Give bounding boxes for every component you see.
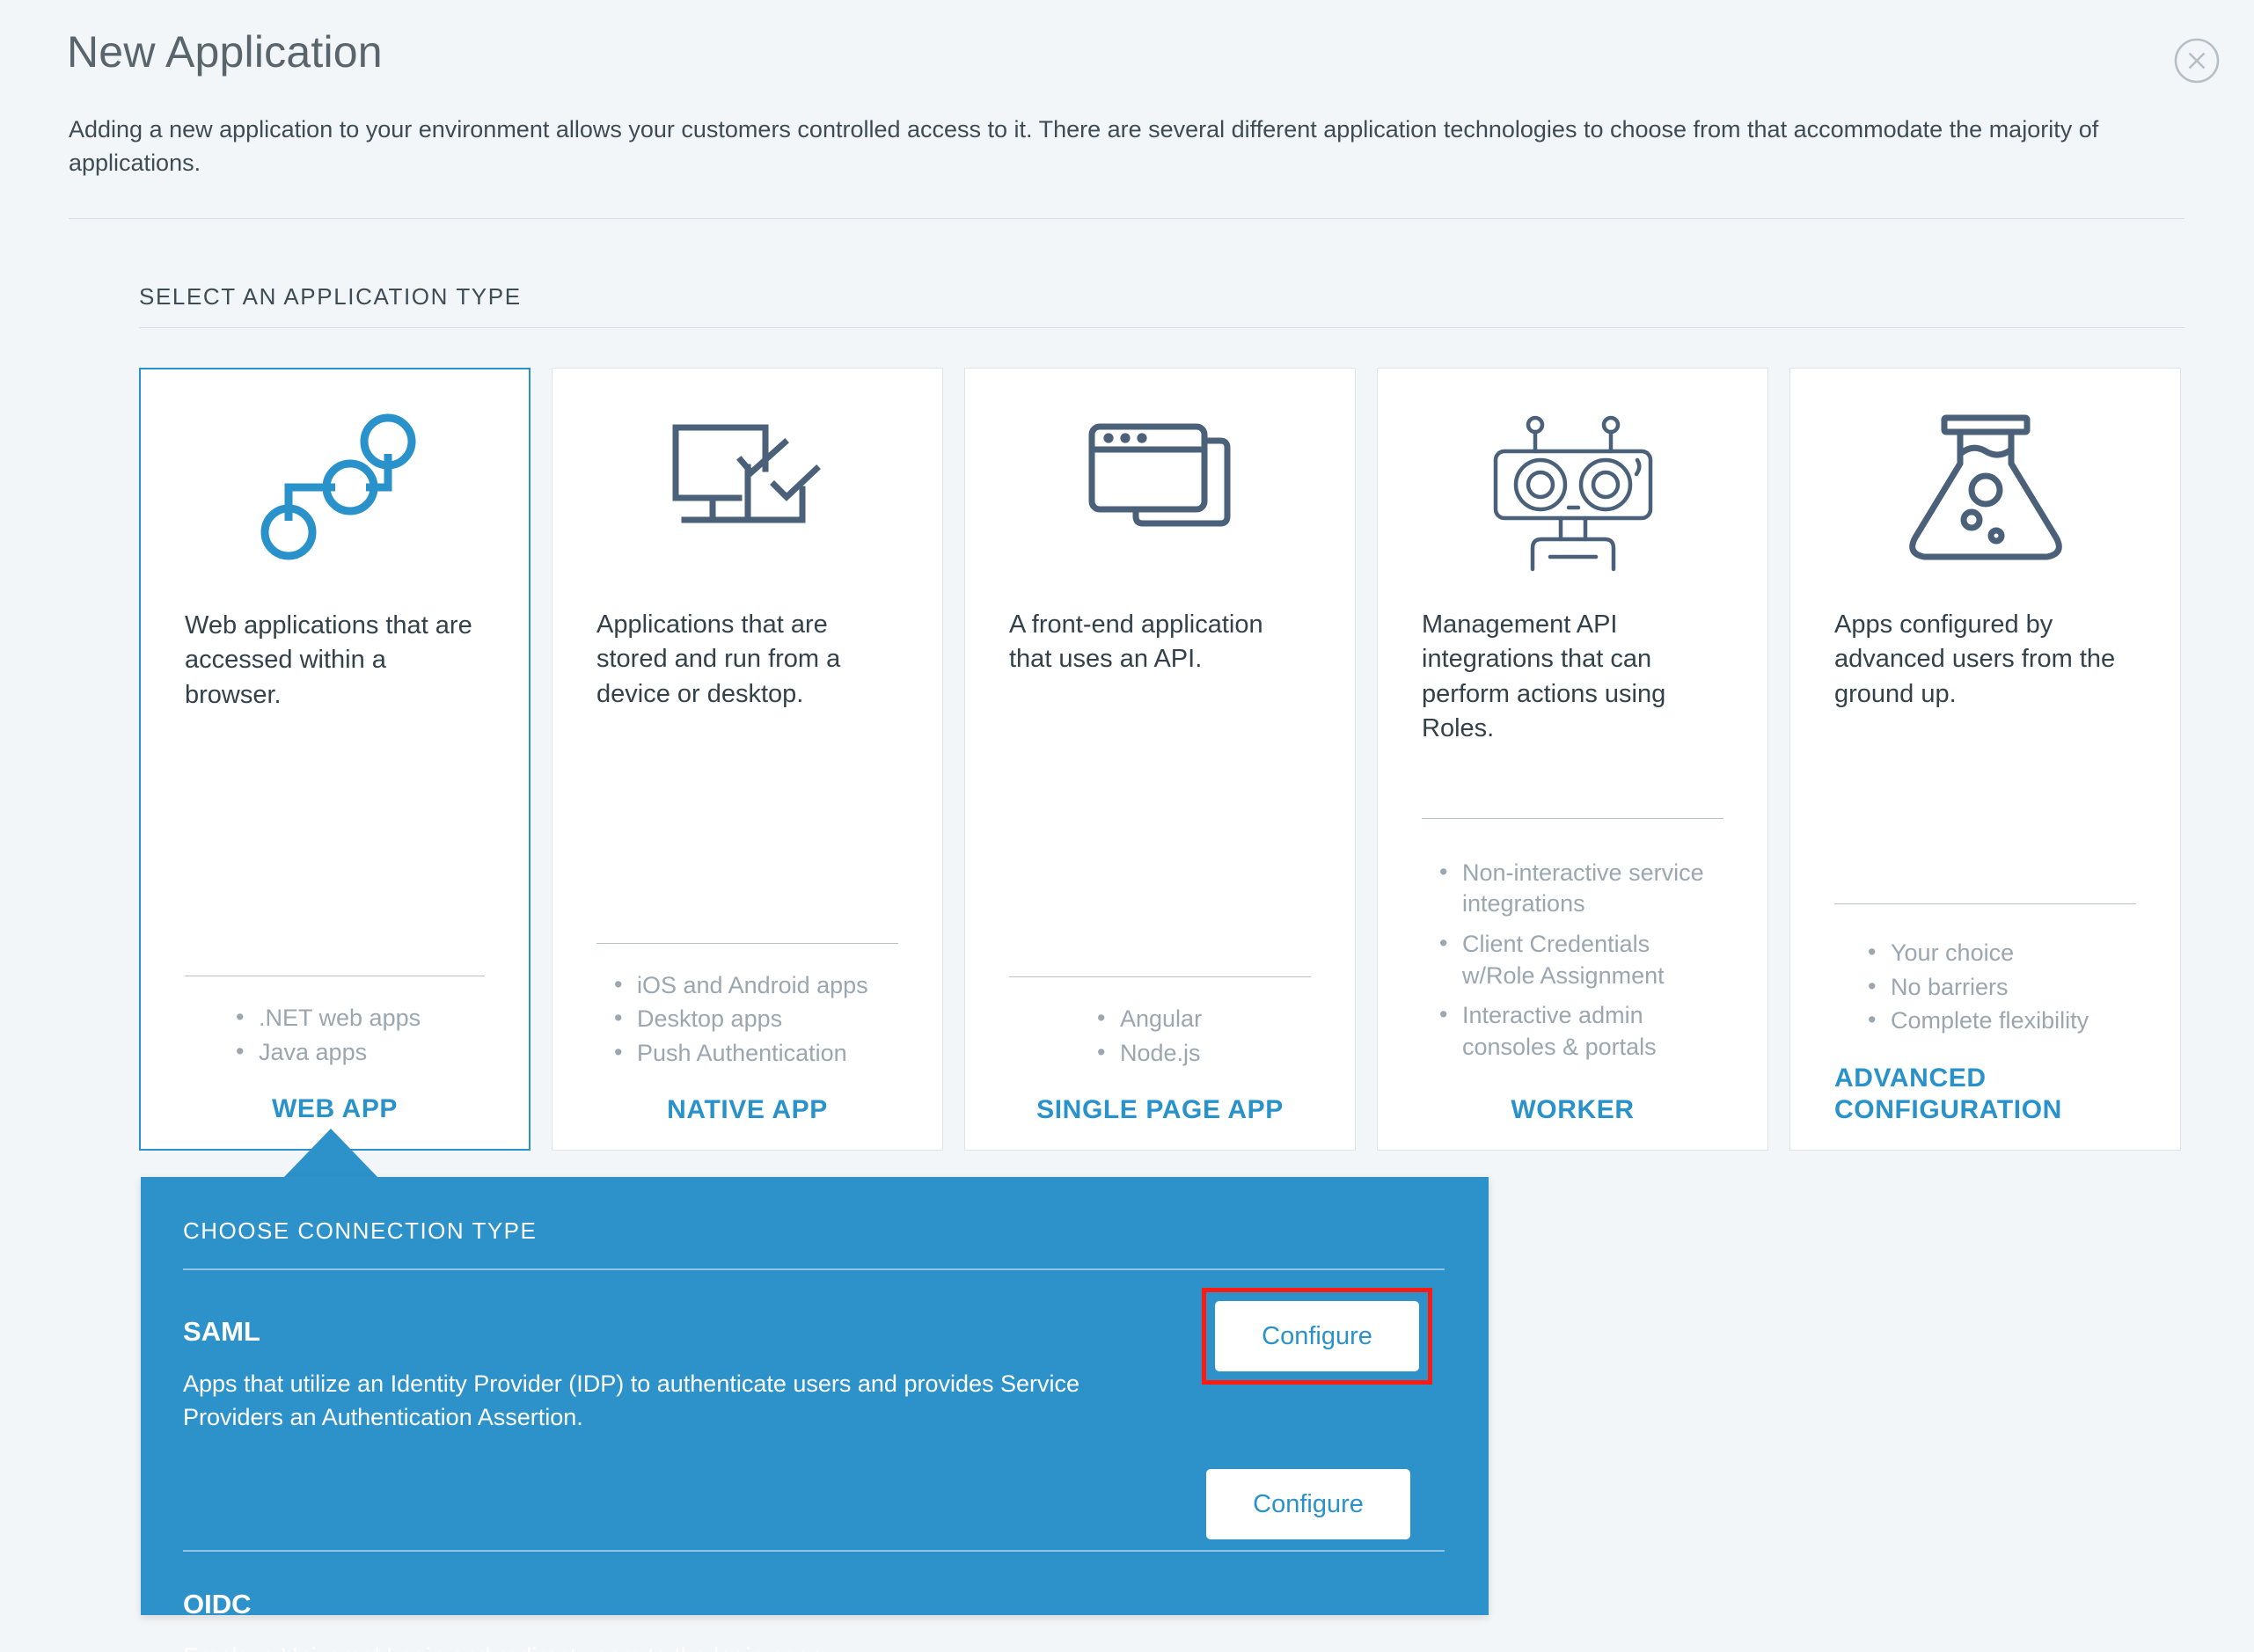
header-divider [69, 218, 2184, 219]
oidc-configure-wrapper: Configure [1206, 1469, 1410, 1539]
connection-option-description: Employs Universal Login and redirect use… [183, 1640, 1155, 1652]
card-cta-web-app[interactable]: WEB APP [185, 1093, 485, 1126]
app-type-card-native-app[interactable]: Applications that are stored and run fro… [552, 368, 943, 1151]
saml-configure-highlight: Configure [1202, 1288, 1432, 1385]
card-description: A front-end application that uses an API… [1009, 608, 1311, 677]
card-cta-worker[interactable]: WORKER [1422, 1094, 1723, 1127]
page-description: Adding a new application to your environ… [69, 113, 2180, 180]
desktop-checkmarks-icon [596, 379, 898, 599]
card-bullet-list: Angular Node.js [1009, 1004, 1311, 1071]
close-icon[interactable] [2173, 37, 2221, 84]
connection-divider-top [183, 1268, 1445, 1270]
list-item: Desktop apps [614, 1004, 898, 1035]
card-divider [1422, 818, 1723, 819]
card-description: Apps configured by advanced users from t… [1834, 608, 2136, 712]
connection-panel-pointer [283, 1129, 378, 1178]
list-item: Interactive admin consoles & portals [1439, 1000, 1723, 1063]
card-description: Applications that are stored and run fro… [596, 608, 898, 712]
card-cta-native-app[interactable]: NATIVE APP [596, 1094, 898, 1127]
card-bullet-list: Your choice No barriers Complete flexibi… [1834, 938, 2136, 1040]
card-bullet-list: Non-interactive service integrations Cli… [1422, 858, 1723, 1072]
card-description: Web applications that are accessed withi… [185, 609, 485, 713]
list-item: Angular [1097, 1004, 1311, 1035]
app-type-card-single-page-app[interactable]: A front-end application that uses an API… [964, 368, 1356, 1151]
browser-windows-icon [1009, 379, 1311, 599]
oidc-configure-button[interactable]: Configure [1206, 1469, 1410, 1539]
list-item: Client Credentials w/Role Assignment [1439, 929, 1723, 991]
card-divider [596, 943, 898, 944]
card-cta-single-page-app[interactable]: SINGLE PAGE APP [1009, 1094, 1311, 1127]
list-item: iOS and Android apps [614, 970, 898, 1002]
robot-icon [1422, 379, 1723, 599]
list-item: No barriers [1868, 972, 2136, 1004]
connection-option-oidc: OIDC Employs Universal Login and redirec… [183, 1589, 1445, 1652]
list-item: Your choice [1868, 938, 2136, 969]
application-type-cards: Web applications that are accessed withi… [139, 368, 2181, 1151]
section-divider [139, 327, 2184, 328]
section-label: SELECT AN APPLICATION TYPE [139, 283, 522, 311]
list-item: Non-interactive service integrations [1439, 858, 1723, 920]
card-divider [185, 976, 485, 976]
network-nodes-icon [185, 380, 485, 600]
card-description: Management API integrations that can per… [1422, 608, 1723, 747]
list-item: Node.js [1097, 1038, 1311, 1070]
list-item: .NET web apps [236, 1003, 485, 1034]
list-item: Push Authentication [614, 1038, 898, 1070]
card-bullet-list: iOS and Android apps Desktop apps Push A… [596, 970, 898, 1072]
flask-icon [1834, 379, 2136, 599]
connection-type-panel: CHOOSE CONNECTION TYPE SAML Apps that ut… [141, 1177, 1489, 1615]
card-divider [1009, 976, 1311, 977]
app-type-card-web-app[interactable]: Web applications that are accessed withi… [139, 368, 531, 1151]
connection-panel-title: CHOOSE CONNECTION TYPE [183, 1217, 537, 1245]
connection-option-name: OIDC [183, 1589, 1445, 1620]
saml-configure-button[interactable]: Configure [1215, 1301, 1419, 1371]
connection-option-description: Apps that utilize an Identity Provider (… [183, 1367, 1155, 1435]
connection-divider-middle [183, 1550, 1445, 1552]
card-bullet-list: .NET web apps Java apps [185, 1003, 485, 1071]
app-type-card-worker[interactable]: Management API integrations that can per… [1377, 368, 1768, 1151]
list-item: Complete flexibility [1868, 1005, 2136, 1037]
app-type-card-advanced-configuration[interactable]: Apps configured by advanced users from t… [1789, 368, 2181, 1151]
page-title: New Application [67, 28, 383, 77]
new-application-dialog: New Application Adding a new application… [0, 0, 2254, 1652]
card-divider [1834, 903, 2136, 904]
list-item: Java apps [236, 1037, 485, 1069]
card-cta-advanced-configuration[interactable]: ADVANCED CONFIGURATION [1834, 1063, 2136, 1127]
